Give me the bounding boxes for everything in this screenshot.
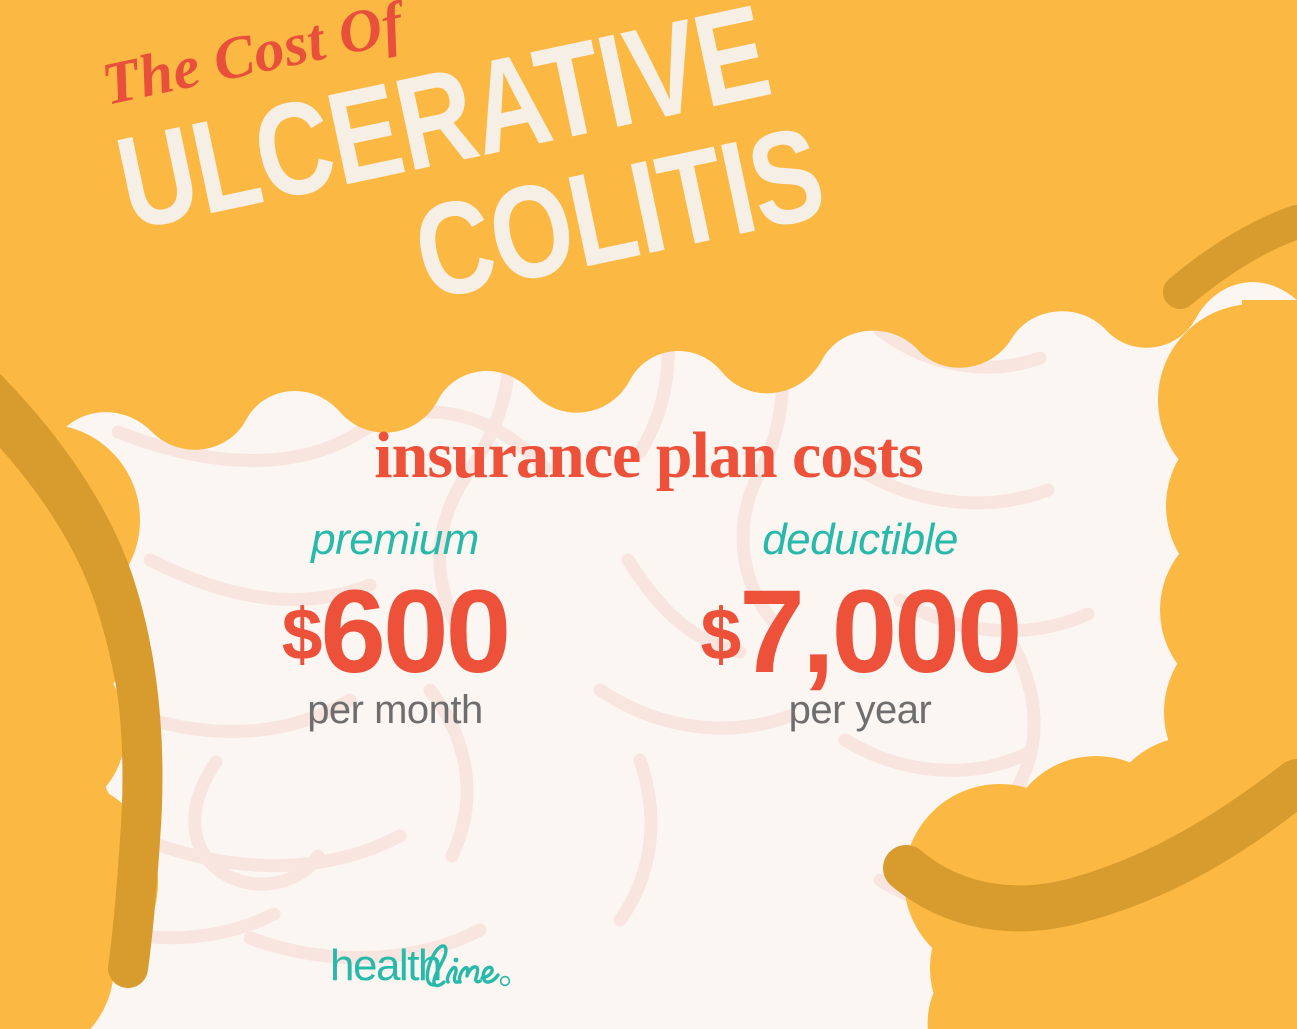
registered-mark-icon: [501, 977, 510, 986]
stat-deductible-value: $7,000: [648, 576, 1072, 688]
stat-deductible: deductible $7,000 per year: [648, 518, 1072, 730]
healthline-logo[interactable]: health line: [330, 938, 520, 994]
page-headline: insurance plan costs: [374, 418, 922, 494]
stat-premium: premium $600 per month: [250, 518, 540, 730]
stat-deductible-amount: 7,000: [739, 566, 1019, 698]
currency-symbol: $: [282, 594, 321, 676]
stat-premium-amount: 600: [320, 566, 508, 698]
infographic-canvas: The Cost Of ULCERATIVE COLITIS insurance…: [0, 0, 1297, 1029]
stat-premium-value: $600: [250, 576, 540, 688]
stat-premium-label: premium: [250, 518, 540, 562]
healthline-logo-word-1: health: [330, 941, 441, 990]
stat-deductible-label: deductible: [648, 518, 1072, 562]
currency-symbol: $: [701, 594, 740, 676]
